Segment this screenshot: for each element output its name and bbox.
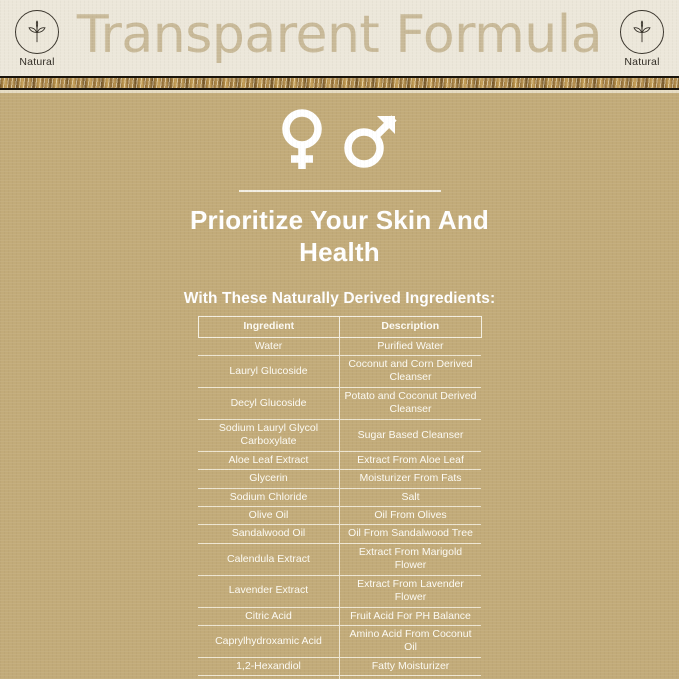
- subheadline: With These Naturally Derived Ingredients…: [0, 290, 679, 308]
- table-row: Lauryl GlucosideCoconut and Corn Derived…: [198, 356, 481, 388]
- cell-description: Extract From Aloe Leaf: [340, 451, 482, 469]
- table-header-row: Ingredient Description: [198, 317, 481, 337]
- natural-badge-right: Natural: [613, 8, 671, 68]
- table-row: Caprylhydroxamic AcidAmino Acid From Coc…: [198, 626, 481, 658]
- column-header-description: Description: [340, 317, 482, 337]
- table-body: WaterPurified WaterLauryl GlucosideCocon…: [198, 337, 481, 679]
- cell-ingredient: Glycerin: [198, 470, 340, 488]
- content-area: Prioritize Your Skin And Health With The…: [0, 90, 679, 679]
- cell-description: Extract From Lavender Flower: [340, 575, 482, 607]
- leaf-icon: [629, 19, 655, 45]
- table-row: WaterPurified Water: [198, 337, 481, 355]
- cell-ingredient: Lavender Extract: [198, 575, 340, 607]
- table-row: Aloe Leaf ExtractExtract From Aloe Leaf: [198, 451, 481, 469]
- cell-description: Oil From Olives: [340, 506, 482, 524]
- infographic-page: Natural Transparent Formula Natural: [0, 0, 679, 679]
- table-row: Calendula ExtractExtract From Marigold F…: [198, 543, 481, 575]
- venus-female-icon: [279, 107, 325, 173]
- cell-ingredient: Olive Oil: [198, 506, 340, 524]
- cell-description: Potato and Coconut Derived Cleanser: [340, 387, 482, 419]
- table-row: Sandalwood OilOil From Sandalwood Tree: [198, 525, 481, 543]
- column-header-ingredient: Ingredient: [198, 317, 340, 337]
- ingredient-table-wrapper: Ingredient Description WaterPurified Wat…: [198, 316, 482, 679]
- table-row: Decyl GlucosidePotato and Coconut Derive…: [198, 387, 481, 419]
- cell-description: Purified Water: [340, 337, 482, 355]
- table-row: GlycerinMoisturizer From Fats: [198, 470, 481, 488]
- leaf-icon: [24, 19, 50, 45]
- badge-circle-right: [620, 10, 664, 54]
- cell-description: Coconut and Corn Derived Cleanser: [340, 356, 482, 388]
- table-row: Sodium Lauryl Glycol CarboxylateSugar Ba…: [198, 419, 481, 451]
- cell-ingredient: Sandalwood Oil: [198, 525, 340, 543]
- cell-description: Sugar Based Cleanser: [340, 419, 482, 451]
- cell-ingredient: Calendula Extract: [198, 543, 340, 575]
- cell-ingredient: Aloe Leaf Extract: [198, 451, 340, 469]
- cell-ingredient: 1,2-Hexandiol: [198, 657, 340, 675]
- cell-ingredient: Decyl Glucoside: [198, 387, 340, 419]
- table-row: Olive OilOil From Olives: [198, 506, 481, 524]
- headline: Prioritize Your Skin And Health: [190, 204, 490, 268]
- cell-ingredient: Citric Acid: [198, 607, 340, 625]
- cell-description: Extract From Marigold Flower: [340, 543, 482, 575]
- header-bar: Natural Transparent Formula Natural: [0, 0, 679, 76]
- headline-divider: [239, 190, 441, 192]
- table-row: Sodium ChlorideSalt: [198, 488, 481, 506]
- table-row: Citric AcidFruit Acid For PH Balance: [198, 607, 481, 625]
- cell-ingredient: Water: [198, 337, 340, 355]
- page-title: Transparent Formula: [66, 9, 613, 67]
- badge-label-left: Natural: [19, 56, 54, 68]
- cell-description: Fatty Moisturizer: [340, 657, 482, 675]
- cell-description: Salt: [340, 488, 482, 506]
- table-row: Lavender ExtractExtract From Lavender Fl…: [198, 575, 481, 607]
- cell-ingredient: Sodium Lauryl Glycol Carboxylate: [198, 419, 340, 451]
- natural-badge-left: Natural: [8, 8, 66, 68]
- cell-ingredient: Lauryl Glucoside: [198, 356, 340, 388]
- cell-ingredient: Sodium Chloride: [198, 488, 340, 506]
- cell-description: Oil From Sandalwood Tree: [340, 525, 482, 543]
- ingredient-table: Ingredient Description WaterPurified Wat…: [198, 316, 482, 679]
- wood-texture-divider: [0, 76, 679, 90]
- table-row: 1,2-HexandiolFatty Moisturizer: [198, 657, 481, 675]
- cell-description: Amino Acid From Coconut Oil: [340, 626, 482, 658]
- badge-label-right: Natural: [624, 56, 659, 68]
- cell-description: Fruit Acid For PH Balance: [340, 607, 482, 625]
- mars-male-icon: [343, 110, 401, 170]
- table-header: Ingredient Description: [198, 317, 481, 337]
- cell-ingredient: Caprylhydroxamic Acid: [198, 626, 340, 658]
- gender-symbols: [0, 104, 679, 176]
- cell-description: Moisturizer From Fats: [340, 470, 482, 488]
- badge-circle-left: [15, 10, 59, 54]
